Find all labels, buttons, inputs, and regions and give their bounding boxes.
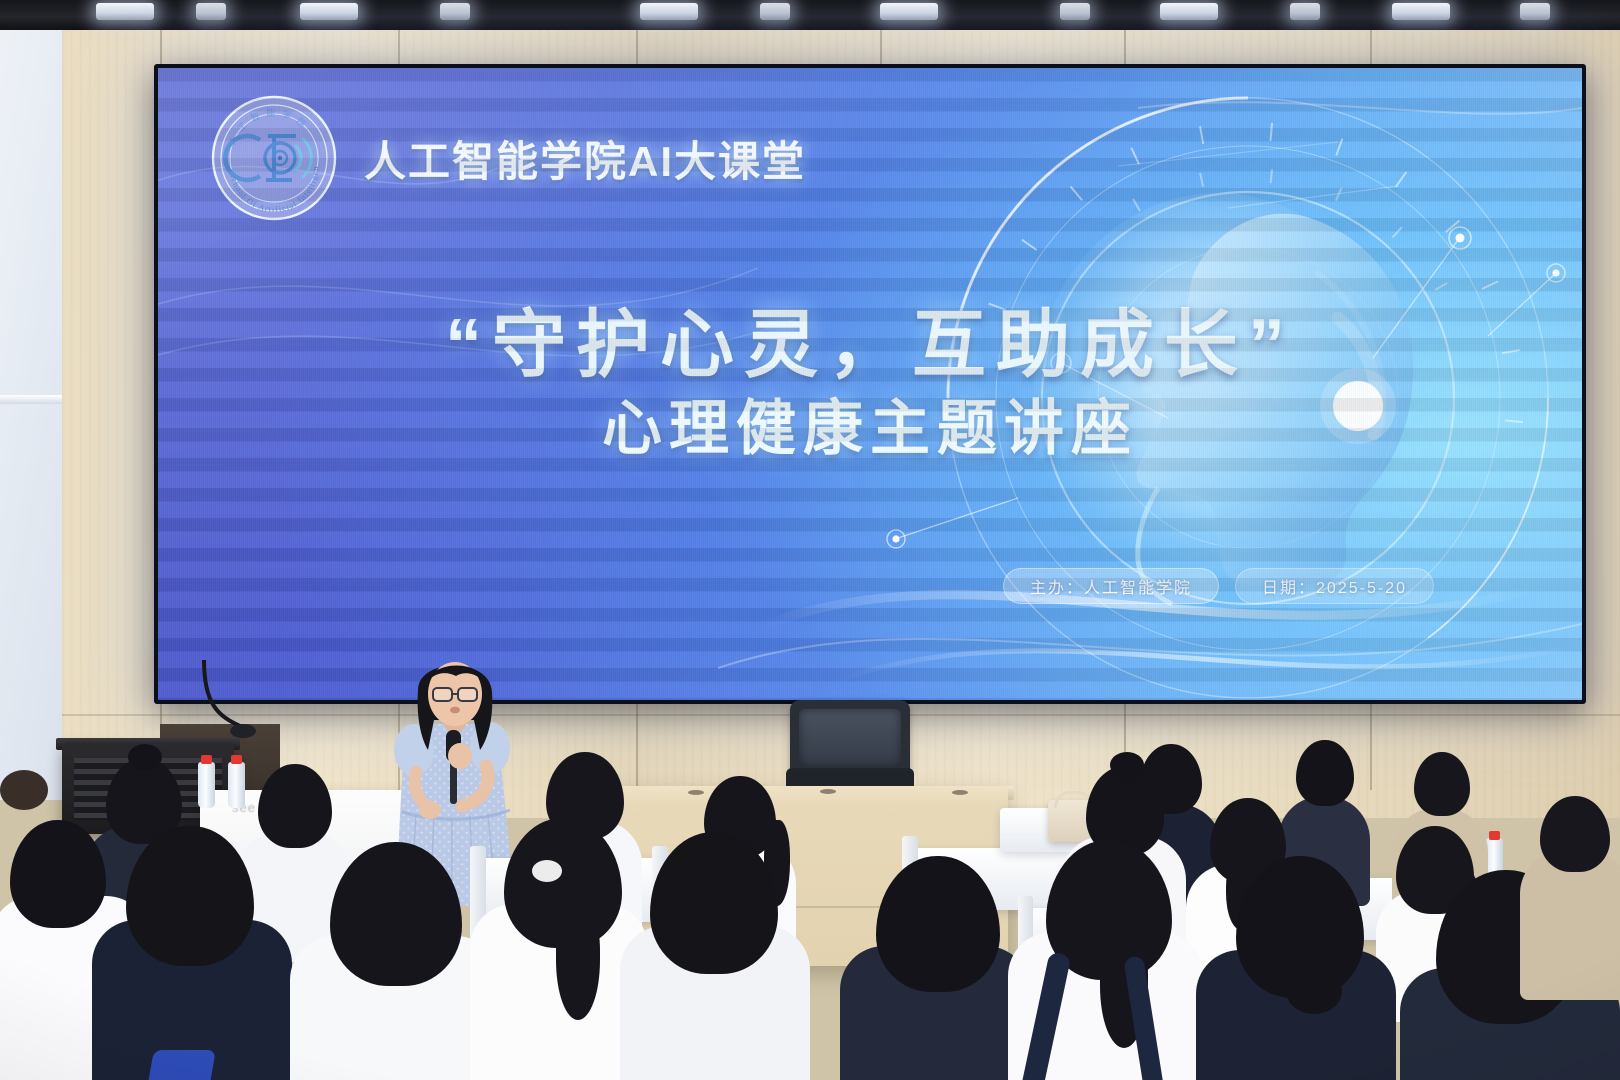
audience-member (330, 842, 462, 986)
led-presentation-screen: School Of Artificial Intelligence 人工智能学院 (154, 64, 1586, 704)
screen-header-title: 人工智能学院AI大课堂 (364, 128, 806, 189)
side-wall (0, 0, 62, 800)
date-pill: 日期：2025-5-20 (1235, 568, 1434, 604)
audience-member-bun (1286, 968, 1342, 1014)
audience-member-bun (0, 770, 48, 810)
lecture-hall-photo: School Of Artificial Intelligence 人工智能学院 (0, 0, 1620, 1080)
ceiling-light-strip (0, 0, 1620, 30)
main-title-line-1: “守护心灵，互助成长” (158, 304, 1582, 385)
audience-member-hairtie (532, 860, 562, 882)
audience-member (1414, 752, 1470, 816)
audience-member (1296, 740, 1354, 806)
audience-member-bun (128, 744, 162, 770)
audience-member-ponytail (556, 900, 600, 1020)
audience-member (126, 826, 254, 966)
audience-member (1540, 796, 1610, 872)
organizer-pill: 主办：人工智能学院 (1003, 568, 1219, 604)
audience-member (10, 820, 106, 928)
screen-info-pills: 主办：人工智能学院 日期：2025-5-20 (1003, 568, 1434, 604)
screen-header: School Of Artificial Intelligence 人工智能学院 (210, 94, 806, 222)
audience-member (1520, 850, 1620, 1000)
main-title-line-2: 心理健康主题讲座 (158, 391, 1582, 466)
audience-member-bun (1110, 752, 1144, 778)
audience-member (258, 764, 332, 848)
student-audience (0, 700, 1620, 1080)
screen-main-title: “守护心灵，互助成长” 心理健康主题讲座 (158, 304, 1582, 466)
school-of-artificial-intelligence-emblem: School Of Artificial Intelligence 人工智能学院 (210, 94, 338, 222)
